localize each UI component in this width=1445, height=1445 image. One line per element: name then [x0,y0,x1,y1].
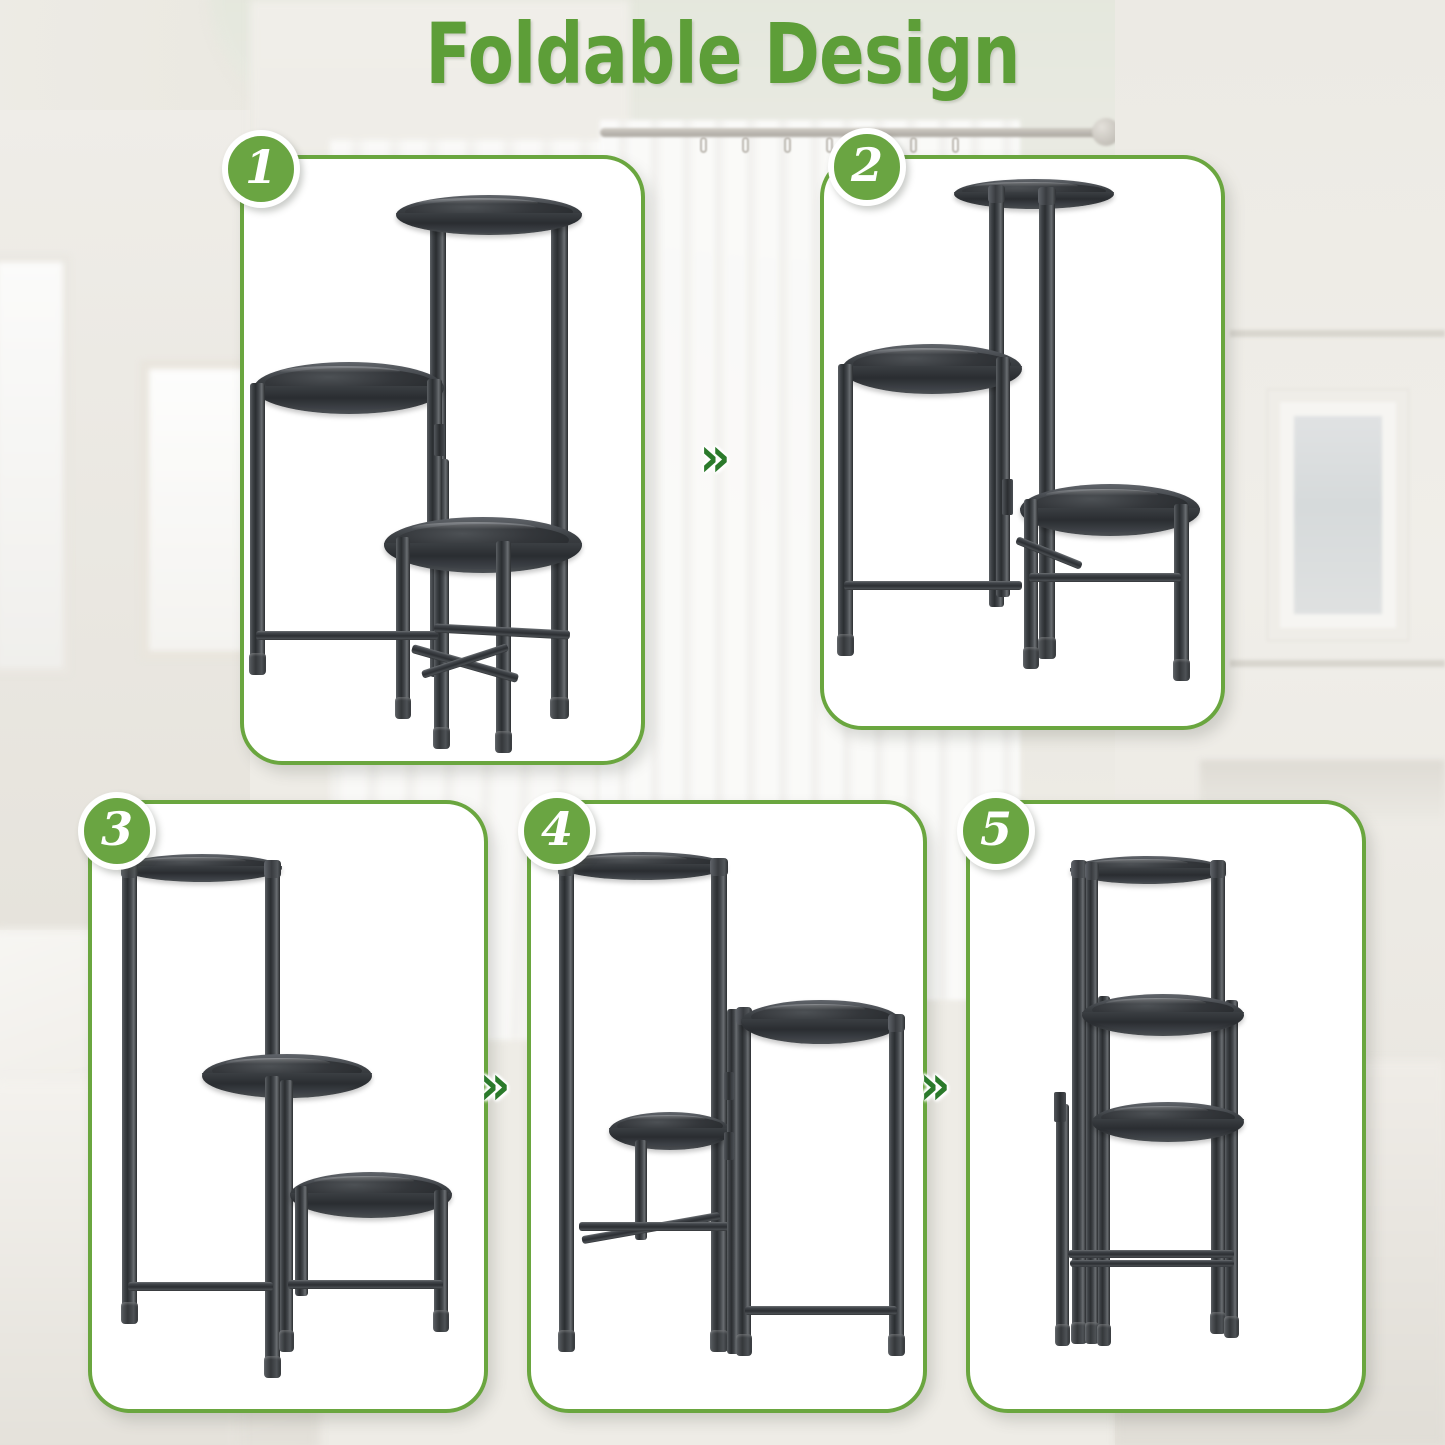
stand-leg-right [1174,504,1189,679]
stand-tray-right [741,1000,901,1044]
step-badge-1: 1 [222,130,300,208]
step-4-illustration [531,804,923,1409]
stand-leg-right-tall [889,1016,904,1354]
stand-post-lower [265,1076,280,1376]
stand-hinge [1054,1092,1066,1122]
stand-leg-left-tall [559,860,574,1350]
background-window-left [0,255,70,675]
stand-base-rail-right [288,1280,443,1289]
stand-tray-bottom [1092,1102,1244,1142]
stand-leg-lower-inner [1024,499,1038,667]
step-panel-1 [240,155,645,765]
step-1-illustration [244,159,641,761]
stand-hinge [1002,479,1013,515]
stand-tray-left-lower [609,1112,731,1150]
stand-tray-bottom [384,517,582,573]
stand-post-center-right [737,1009,751,1354]
stand-tray-middle [842,344,1022,394]
step-badge-5: 5 [957,792,1035,870]
background-moulding-top [1230,330,1445,337]
stand-tray-bottom [290,1172,452,1218]
stand-post-center-left [711,860,727,1350]
stand-tray-top [122,854,282,882]
stand-leg-lower-left [396,537,410,717]
arrow-step-3-to-4: » [480,1058,499,1114]
background-curtain-ring [784,137,791,153]
stand-hinge-lower [724,1132,734,1160]
step-2-illustration [824,159,1221,726]
stand-leg-stack-e [1098,996,1110,1344]
background-curtain-ring [910,137,917,153]
stand-tray-middle [254,362,444,414]
stand-tray-bottom [1020,484,1200,536]
stand-post-front [1039,189,1055,657]
stand-base-rail-left [128,1282,273,1291]
background-moulding-bottom [1230,660,1445,667]
stand-base-rail-left [256,631,438,640]
step-3-illustration [92,804,484,1409]
stand-base-rail-left [579,1222,729,1231]
step-5-illustration [970,804,1362,1409]
background-picture-art [1294,416,1382,614]
step-panel-2 [820,155,1225,730]
background-picture-frame [1268,390,1408,640]
background-curtain-ring [742,137,749,153]
stand-tray-top [396,195,582,235]
stand-hinge [434,424,445,456]
stand-tray-top [954,179,1114,209]
step-badge-4: 4 [518,792,596,870]
step-panel-3 [88,800,488,1413]
stand-leg-stack-a [1072,862,1086,1342]
stand-leg-front-left [250,383,265,673]
stand-leg-left [838,364,853,654]
stand-leg-mid-right [427,379,442,539]
stand-base-rail-a [1068,1250,1234,1258]
stand-hinge-upper [724,1072,734,1100]
stand-base-rail-right [745,1306,897,1315]
stand-leg-mid [996,357,1010,597]
arrow-step-1-to-2: » [700,430,719,486]
background-curtain-ring [952,137,959,153]
stand-leg-left [122,862,137,1322]
background-curtain-ring [700,137,707,153]
stand-leg-stack-d [1056,1104,1069,1344]
step-panel-5 [966,800,1366,1413]
arrow-step-4-to-5: » [920,1058,939,1114]
page-title: Foldable Design [145,10,1301,98]
step-badge-2: 2 [828,128,906,206]
step-panel-4 [527,800,927,1413]
stand-base-rail-right [1029,573,1181,582]
stand-base-rail-left [844,581,1022,590]
stand-leg-right [434,1190,448,1330]
stand-leg-stack-f [1225,1000,1238,1336]
stand-base-rail-b [1070,1260,1234,1267]
step-badge-3: 3 [78,792,156,870]
stand-leg-tall-right [551,207,568,717]
stand-tray-middle [1082,994,1244,1036]
